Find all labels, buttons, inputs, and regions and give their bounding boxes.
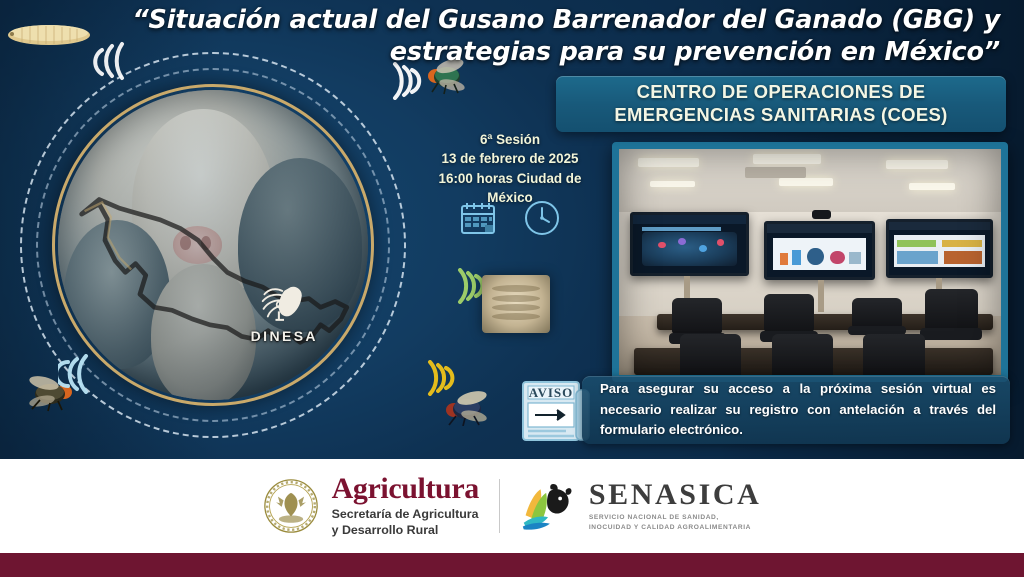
clock-icon	[522, 198, 562, 238]
signal-waves-icon	[58, 354, 98, 394]
footer-divider	[499, 479, 500, 533]
page-title: “Situación actual del Gusano Barrenador …	[108, 4, 1000, 68]
senasica-subtitle: SERVICIO NACIONAL DE SANIDAD, INOCUIDAD …	[589, 513, 762, 532]
title-line-2: para su prevención en México”	[560, 37, 1000, 67]
coes-banner: CENTRO DE OPERACIONES DE EMERGENCIAS SAN…	[556, 76, 1006, 132]
signal-waves-icon	[452, 268, 486, 304]
senasica-subtitle-line-2: INOCUIDAD Y CALIDAD AGROALIMENTARIA	[589, 523, 762, 533]
senasica-subtitle-line-1: SERVICIO NACIONAL DE SANIDAD,	[589, 513, 762, 523]
senasica-title: SENASICA	[589, 480, 762, 510]
dinesa-logo: DINESA	[232, 279, 337, 344]
svg-text:AVISO: AVISO	[529, 385, 574, 400]
coes-line-2: EMERGENCIAS SANITARIAS (COES)	[614, 104, 947, 127]
agricultura-logo-group: Agricultura Secretaría de Agricultura y …	[263, 474, 479, 538]
coes-line-1: CENTRO DE OPERACIONES DE	[614, 81, 947, 104]
senasica-corn-cow-logo	[520, 478, 576, 534]
session-date: 13 de febrero de 2025	[414, 149, 606, 168]
footer-logos: Agricultura Secretaría de Agricultura y …	[0, 459, 1024, 553]
mexican-national-seal	[263, 478, 319, 534]
session-info: 6ª Sesión 13 de febrero de 2025 16:00 ho…	[414, 130, 606, 208]
notice-box: Para asegurar su acceso a la próxima ses…	[582, 376, 1010, 444]
bottom-maroon-bar	[0, 553, 1024, 577]
screwworm-larva-icon	[6, 22, 92, 48]
poster-stage: DINESA	[0, 0, 1024, 459]
agricultura-text: Agricultura Secretaría de Agricultura y …	[332, 474, 479, 538]
agricultura-subtitle: Secretaría de Agricultura y Desarrollo R…	[332, 506, 479, 538]
session-time-line-1: 16:00 horas Ciudad de	[414, 169, 606, 188]
notice-block: AVISO Para asegurar su acceso a la próxi…	[520, 374, 1010, 448]
larva-specimen-photo	[482, 275, 550, 333]
senasica-text: SENASICA SERVICIO NACIONAL DE SANIDAD, I…	[589, 480, 762, 532]
agricultura-subtitle-line-1: Secretaría de Agricultura	[332, 506, 479, 522]
poster-root: DINESA	[0, 0, 1024, 577]
session-number: 6ª Sesión	[414, 130, 606, 149]
session-icon-row	[414, 198, 606, 238]
notice-text: Para asegurar su acceso a la próxima ses…	[600, 379, 996, 442]
coes-banner-text: CENTRO DE OPERACIONES DE EMERGENCIAS SAN…	[614, 81, 947, 127]
senasica-logo-group: SENASICA SERVICIO NACIONAL DE SANIDAD, I…	[520, 478, 762, 534]
screwworm-fly-icon	[440, 382, 492, 426]
agricultura-title: Agricultura	[332, 474, 479, 504]
calendar-icon	[458, 198, 498, 238]
coes-room-photo	[612, 142, 1008, 382]
agricultura-subtitle-line-2: y Desarrollo Rural	[332, 522, 479, 538]
dinesa-label: DINESA	[232, 328, 337, 344]
cattle-photo-disc: DINESA	[58, 90, 368, 400]
aztec-head-icon	[258, 279, 310, 325]
